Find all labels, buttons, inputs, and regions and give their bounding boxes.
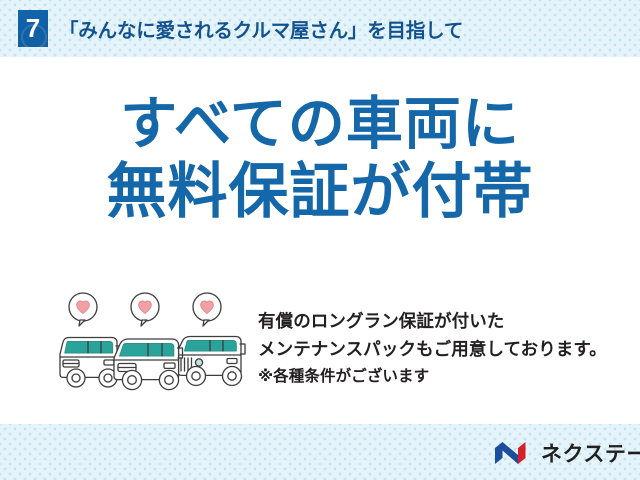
nexstage-n-logo-icon	[494, 441, 534, 465]
section-number-badge: 7	[18, 10, 48, 47]
body-copy-line-2: メンテナンスパックもご用意しております。	[258, 335, 630, 363]
car-suv	[178, 337, 245, 386]
header-title: 「みんなに愛されるクルマ屋さん」を目指して	[59, 14, 463, 43]
footer-logo-text: ネクステージ	[541, 438, 640, 468]
heart-bubble-1	[69, 293, 97, 326]
cars-with-hearts-illustration	[52, 292, 250, 396]
footer-logo: ネクステージ	[494, 438, 640, 468]
body-copy: 有償のロングラン保証が付いた メンテナンスパックもご用意しております。 ※各種条…	[258, 307, 630, 389]
heart-bubble-3	[193, 293, 221, 326]
headline: すべての車両に 無料保証が付帯	[0, 95, 640, 224]
car-wagon	[60, 338, 121, 388]
header: 7 「みんなに愛されるクルマ屋さん」を目指して	[0, 0, 640, 57]
body-copy-line-1: 有償のロングラン保証が付いた	[258, 307, 630, 335]
body-copy-note: ※各種条件がございます	[258, 364, 630, 389]
promo-banner: 7 「みんなに愛されるクルマ屋さん」を目指して すべての車両に 無料保証が付帯	[0, 0, 640, 480]
car-minivan	[114, 339, 183, 390]
cars-illustration-svg	[52, 292, 250, 396]
heart-bubble-2	[131, 293, 159, 326]
headline-line-2: 無料保証が付帯	[0, 161, 640, 223]
headline-line-1: すべての車両に	[0, 95, 640, 154]
